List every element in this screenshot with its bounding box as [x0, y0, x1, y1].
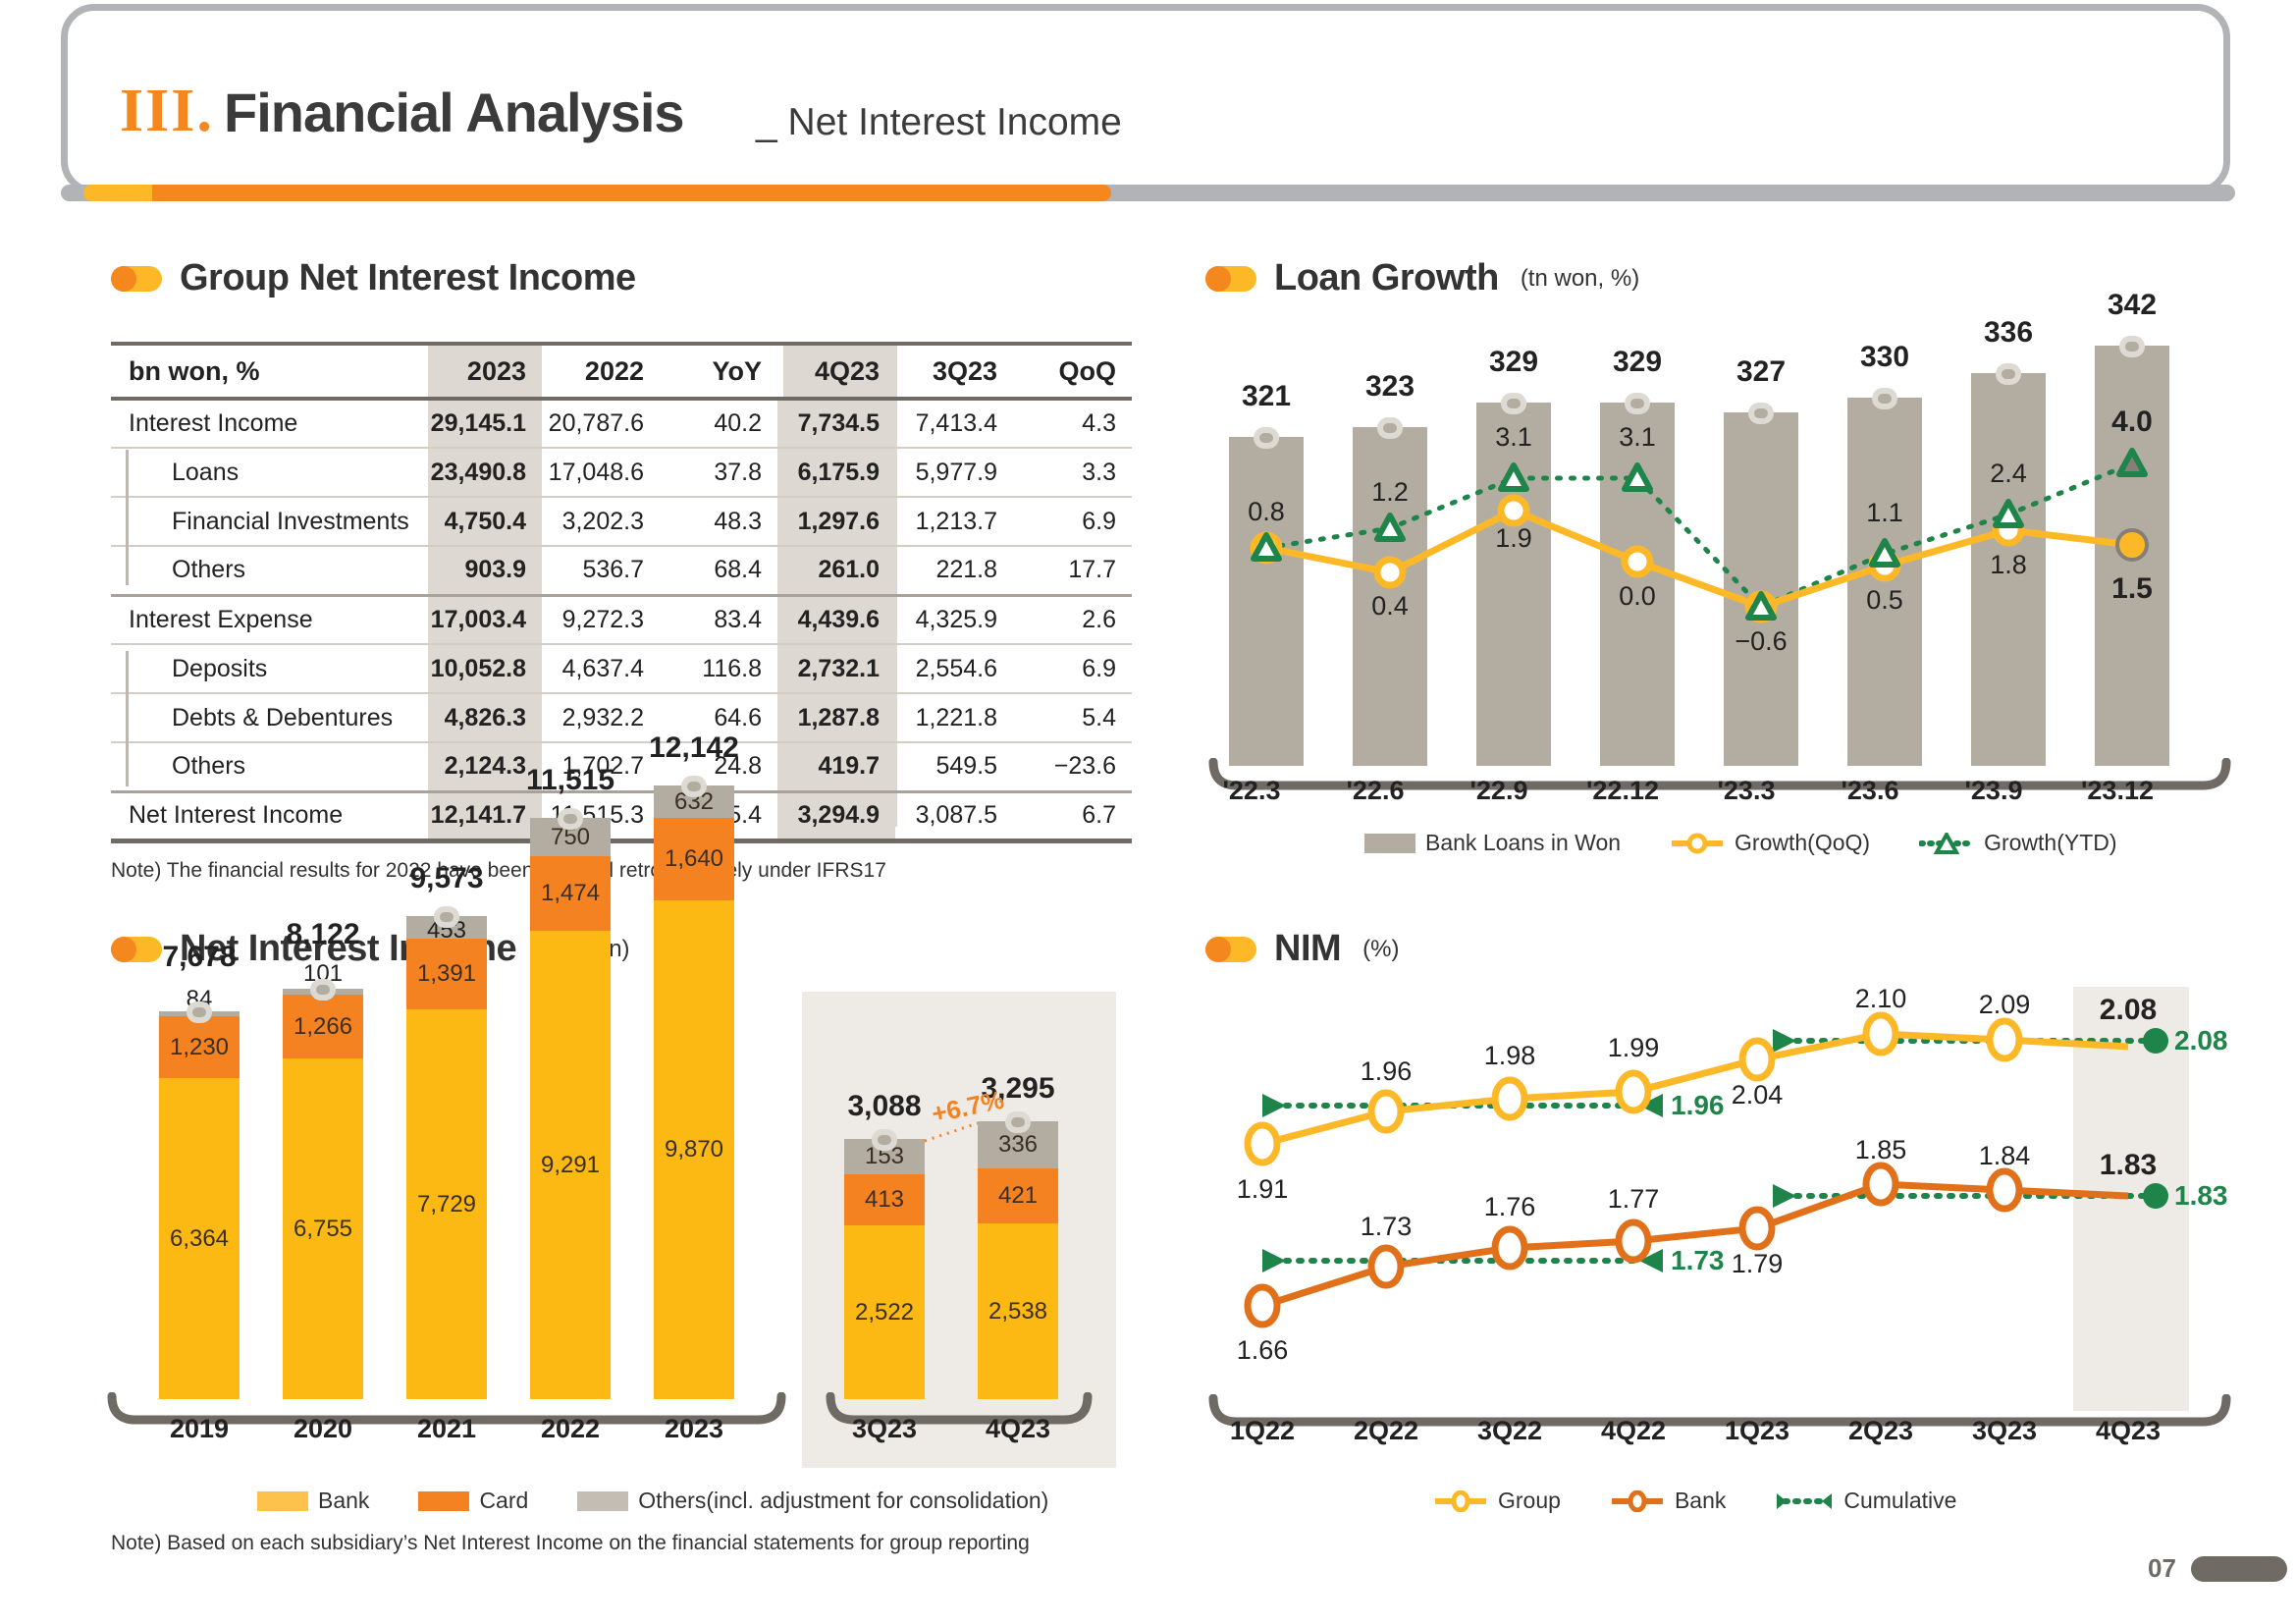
- x-label: 3Q23: [1943, 1416, 2066, 1446]
- x-label: 2021: [385, 1414, 508, 1444]
- row-label: Net Interest Income: [111, 791, 428, 840]
- legend-swatch-icon: [1364, 834, 1415, 853]
- qoq-label: 1.8: [1969, 550, 2048, 580]
- col-header-yoy: YoY: [660, 344, 777, 399]
- x-label: 2023: [632, 1414, 756, 1444]
- cumulative-label-bank-fy23: 1.83: [2174, 1180, 2228, 1212]
- bullet-pill-icon: [111, 266, 162, 292]
- cell-qoq: 6.9: [1013, 497, 1132, 546]
- x-label: '22.3: [1190, 776, 1313, 806]
- legend-item-card: Card: [418, 1488, 528, 1514]
- x-label: '23.6: [1808, 776, 1932, 806]
- table-row: Loans 23,490.8 17,048.6 37.8 6,175.9 5,9…: [111, 448, 1132, 497]
- legend-swatch-icon: [418, 1491, 469, 1511]
- segment-label-bank: 6,364: [170, 1225, 229, 1253]
- table-row: Others 903.9 536.7 68.4 261.0 221.8 17.7: [111, 546, 1132, 595]
- col-header-2023: 2023: [428, 344, 542, 399]
- cell-2023: 4,826.3: [428, 693, 542, 742]
- indent-bracket: [126, 651, 129, 786]
- group-value-label: 1.98: [1468, 1041, 1551, 1071]
- table-row: Interest Expense 17,003.4 9,272.3 83.4 4…: [111, 595, 1132, 644]
- cell-2023: 12,141.7: [428, 791, 542, 840]
- legend-label: Growth(YTD): [1984, 830, 2116, 856]
- bar-grommet-icon: [310, 979, 336, 1001]
- segment-label-bank: 7,729: [417, 1191, 476, 1218]
- row-label: Others: [111, 742, 428, 791]
- legend-swatch-icon: [577, 1491, 628, 1511]
- x-label: 4Q22: [1572, 1416, 1695, 1446]
- stacked-bar-2023: 632 1,640 9,870: [654, 785, 734, 1399]
- qoq-label: 0.5: [1845, 585, 1924, 616]
- slide: III. Financial Analysis _ Net Interest I…: [0, 0, 2296, 1624]
- cell-2023: 903.9: [428, 546, 542, 595]
- segment-label-bank: 6,755: [294, 1216, 352, 1243]
- bank-value-label: 1.84: [1963, 1141, 2046, 1171]
- stacked-bar-2021: 1,391 7,729: [406, 916, 487, 1399]
- section-title: Group Net Interest Income: [180, 257, 636, 299]
- loan-growth-chart: 321 323 329 329 327 330 336 342: [1217, 324, 2228, 776]
- legend-item-cumulative: Cumulative: [1775, 1488, 1956, 1514]
- x-label: 1Q23: [1695, 1416, 1819, 1446]
- bar-grommet-icon: [187, 1001, 212, 1023]
- cell-qoq: −23.6: [1013, 742, 1132, 791]
- ytd-label: 2.4: [1969, 459, 2048, 489]
- legend-item-bank-loans: Bank Loans in Won: [1364, 830, 1621, 856]
- x-label: '22.9: [1437, 776, 1561, 806]
- bar-grommet-icon: [434, 906, 459, 928]
- legend-line-cumulative-icon: [1775, 1490, 1834, 1512]
- section-title: NIM: [1274, 928, 1341, 970]
- header-underline-orange: [83, 185, 1111, 201]
- legend-label: Others(incl. adjustment for consolidatio…: [638, 1488, 1048, 1514]
- row-label: Interest Expense: [111, 595, 428, 644]
- legend-item-bank: Bank: [257, 1488, 369, 1514]
- cell-4q23: 261.0: [777, 546, 895, 595]
- cell-2023: 23,490.8: [428, 448, 542, 497]
- bar-grommet-icon: [558, 808, 583, 830]
- nim-chart: 1.91 1.96 1.98 1.99 2.04 2.10 2.09 2.08 …: [1217, 992, 2228, 1394]
- cell-yoy: 83.4: [660, 595, 777, 644]
- legend-label: Card: [479, 1488, 528, 1514]
- loan-growth-lines: [1217, 324, 2228, 776]
- segment-label-card: 1,266: [294, 1013, 352, 1041]
- nim-lines: [1217, 992, 2228, 1394]
- cumulative-label-bank-fy22: 1.73: [1671, 1245, 1725, 1276]
- cell-2023: 4,750.4: [428, 497, 542, 546]
- group-value-label: 2.04: [1716, 1080, 1798, 1110]
- bank-value-label: 1.76: [1468, 1192, 1551, 1222]
- legend-item-group: Group: [1433, 1488, 1561, 1514]
- stacked-bar-2022: 750 1,474 9,291: [530, 818, 611, 1399]
- cell-4q23: 3,294.9: [777, 791, 895, 840]
- x-label: '22.12: [1561, 776, 1684, 806]
- group-value-label: 2.10: [1840, 984, 1922, 1014]
- legend-label: Cumulative: [1843, 1488, 1956, 1514]
- cell-2022: 3,202.3: [542, 497, 660, 546]
- x-label: 2Q23: [1819, 1416, 1943, 1446]
- bank-value-label: 1.66: [1221, 1335, 1304, 1366]
- qoq-label: 1.5: [2093, 572, 2171, 606]
- group-value-label: 1.96: [1345, 1056, 1427, 1087]
- section-title: Loan Growth: [1274, 257, 1499, 299]
- cell-yoy: 40.2: [660, 399, 777, 448]
- cumulative-label-group-fy22: 1.96: [1671, 1090, 1725, 1121]
- cell-2023: 17,003.4: [428, 595, 542, 644]
- legend-line-group-icon: [1433, 1490, 1488, 1512]
- ytd-label: 3.1: [1598, 422, 1677, 453]
- cell-qoq: 17.7: [1013, 546, 1132, 595]
- bar-value-label: 342: [2093, 289, 2171, 322]
- cell-2022: 4,637.4: [542, 644, 660, 693]
- cell-4q23: 4,439.6: [777, 595, 895, 644]
- cell-qoq: 4.3: [1013, 399, 1132, 448]
- x-label: 2020: [261, 1414, 385, 1444]
- legend-line-bank-icon: [1610, 1490, 1665, 1512]
- cell-4q23: 6,175.9: [777, 448, 895, 497]
- cell-3q23: 4,325.9: [895, 595, 1013, 644]
- ytd-label: 3.1: [1474, 422, 1553, 453]
- bullet-pill-icon: [1205, 937, 1256, 962]
- row-label: Deposits: [111, 644, 428, 693]
- col-header-qoq: QoQ: [1013, 344, 1132, 399]
- header-underline-accent: [83, 185, 152, 201]
- cumulative-label-group-fy23: 2.08: [2174, 1025, 2228, 1056]
- cell-2022: 536.7: [542, 546, 660, 595]
- cell-3q23: 549.5: [895, 742, 1013, 791]
- cell-3q23: 221.8: [895, 546, 1013, 595]
- section-header-loan-growth: Loan Growth (tn won, %): [1205, 257, 1639, 299]
- segment-label-bank: 9,291: [541, 1152, 600, 1179]
- table-head: bn won, % 2023 2022 YoY 4Q23 3Q23 QoQ: [111, 344, 1132, 399]
- bank-value-label: 1.73: [1345, 1212, 1427, 1242]
- cell-yoy: 68.4: [660, 546, 777, 595]
- qoq-label: 0.4: [1351, 591, 1429, 622]
- cell-4q23: 419.7: [777, 742, 895, 791]
- x-label: 2022: [508, 1414, 632, 1444]
- total-label-2023: 12,142: [632, 731, 756, 765]
- group-value-label: 1.99: [1592, 1033, 1675, 1063]
- legend-swatch-icon: [257, 1491, 308, 1511]
- bank-value-label: 1.79: [1716, 1249, 1798, 1279]
- section-number: III.: [120, 77, 214, 146]
- col-header-4q23: 4Q23: [777, 344, 895, 399]
- x-label: '23.3: [1684, 776, 1808, 806]
- row-label: Financial Investments: [111, 497, 428, 546]
- qoq-label: 0.0: [1598, 581, 1677, 612]
- nii-note: Note) Based on each subsidiary’s Net Int…: [111, 1532, 1030, 1555]
- row-label: Loans: [111, 448, 428, 497]
- col-header-unit: bn won, %: [111, 344, 428, 399]
- x-label: 1Q22: [1201, 1416, 1324, 1446]
- legend-label: Bank: [1675, 1488, 1726, 1514]
- cell-qoq: 6.7: [1013, 791, 1132, 840]
- segment-label-card: 1,474: [541, 880, 600, 907]
- row-label: Interest Income: [111, 399, 428, 448]
- cell-2022: 20,787.6: [542, 399, 660, 448]
- cell-3q23: 3,087.5: [895, 791, 1013, 840]
- stacked-bar-2020: 1,266 6,755: [283, 989, 363, 1399]
- bank-value-label: 1.85: [1840, 1135, 1922, 1165]
- qoq-label: −0.6: [1722, 626, 1800, 657]
- group-value-label: 2.09: [1963, 990, 2046, 1020]
- legend-line-qoq-icon: [1670, 833, 1725, 854]
- cell-3q23: 1,221.8: [895, 693, 1013, 742]
- cell-qoq: 2.6: [1013, 595, 1132, 644]
- legend-item-others: Others(incl. adjustment for consolidatio…: [577, 1488, 1048, 1514]
- cell-2023: 10,052.8: [428, 644, 542, 693]
- nii-legend: Bank Card Others(incl. adjustment for co…: [257, 1488, 1084, 1514]
- segment-label-card: 1,391: [417, 960, 476, 988]
- section-unit: (tn won, %): [1521, 265, 1639, 293]
- total-label-2021: 9,573: [385, 862, 508, 895]
- segment-label-card: 1,640: [665, 845, 723, 873]
- cell-2022: 17,048.6: [542, 448, 660, 497]
- legend-label: Bank Loans in Won: [1425, 830, 1621, 856]
- x-label: 2Q22: [1324, 1416, 1448, 1446]
- cell-qoq: 6.9: [1013, 644, 1132, 693]
- cell-qoq: 5.4: [1013, 693, 1132, 742]
- legend-label: Growth(QoQ): [1735, 830, 1870, 856]
- section-header-nim: NIM (%): [1205, 928, 1399, 970]
- bullet-pill-icon: [1205, 266, 1256, 292]
- legend-item-ytd: Growth(YTD): [1919, 830, 2116, 856]
- page-number: 07: [2148, 1553, 2176, 1584]
- row-label: Others: [111, 546, 428, 595]
- table-row: Net Interest Income 12,141.7 11,515.3 5.…: [111, 791, 1132, 840]
- section-header-group-nii: Group Net Interest Income: [111, 257, 636, 299]
- title-separator: _: [756, 101, 777, 143]
- ytd-label: 1.2: [1351, 477, 1429, 508]
- legend-line-ytd-icon: [1919, 833, 1974, 854]
- x-label: 4Q23: [956, 1414, 1080, 1444]
- qoq-label: 0.8: [1227, 497, 1306, 527]
- col-header-3q23: 3Q23: [895, 344, 1013, 399]
- cell-yoy: 48.3: [660, 497, 777, 546]
- table-row: Financial Investments 4,750.4 3,202.3 48…: [111, 497, 1132, 546]
- bank-value-label: 1.83: [2087, 1149, 2169, 1182]
- col-header-2022: 2022: [542, 344, 660, 399]
- group-value-label: 2.08: [2087, 994, 2169, 1027]
- legend-item-bank: Bank: [1610, 1488, 1726, 1514]
- cell-yoy: 37.8: [660, 448, 777, 497]
- cell-2022: 9,272.3: [542, 595, 660, 644]
- group-value-label: 1.91: [1221, 1174, 1304, 1205]
- x-label: '22.6: [1313, 776, 1437, 806]
- segment-label-card: 1,230: [170, 1034, 229, 1061]
- page-title: Financial Analysis: [224, 81, 684, 144]
- x-label: '23.12: [2056, 776, 2179, 806]
- cell-3q23: 5,977.9: [895, 448, 1013, 497]
- segment-label-bank: 9,870: [665, 1136, 723, 1164]
- indent-bracket: [126, 450, 129, 585]
- total-label-2019: 7,678: [137, 941, 261, 974]
- cell-4q23: 1,297.6: [777, 497, 895, 546]
- table-row: Interest Income 29,145.1 20,787.6 40.2 7…: [111, 399, 1132, 448]
- cell-2023: 29,145.1: [428, 399, 542, 448]
- loan-growth-legend: Bank Loans in Won Growth(QoQ) Growth(YTD…: [1364, 830, 2153, 856]
- table-row: Debts & Debentures 4,826.3 2,932.2 64.6 …: [111, 693, 1132, 742]
- qoq-label: 1.9: [1474, 523, 1553, 554]
- nim-legend: Group Bank Cumulative: [1433, 1488, 1992, 1514]
- x-label: '23.9: [1932, 776, 2056, 806]
- bank-value-label: 1.77: [1592, 1184, 1675, 1215]
- cell-qoq: 3.3: [1013, 448, 1132, 497]
- legend-item-qoq: Growth(QoQ): [1670, 830, 1870, 856]
- row-label: Debts & Debentures: [111, 693, 428, 742]
- total-label-2020: 8,122: [261, 918, 385, 951]
- total-label-2022: 11,515: [508, 764, 632, 797]
- x-label: 4Q23: [2066, 1416, 2190, 1446]
- legend-label: Bank: [318, 1488, 369, 1514]
- cell-4q23: 2,732.1: [777, 644, 895, 693]
- cell-3q23: 1,213.7: [895, 497, 1013, 546]
- table-header-row: bn won, % 2023 2022 YoY 4Q23 3Q23 QoQ: [111, 344, 1132, 399]
- bar-grommet-icon: [681, 776, 707, 797]
- table-row: Deposits 10,052.8 4,637.4 116.8 2,732.1 …: [111, 644, 1132, 693]
- cell-3q23: 7,413.4: [895, 399, 1013, 448]
- cell-yoy: 116.8: [660, 644, 777, 693]
- section-unit: (%): [1362, 936, 1399, 963]
- subtitle-text: Net Interest Income: [788, 101, 1122, 143]
- page-subtitle: _ Net Interest Income: [756, 101, 1122, 144]
- x-label: 3Q23: [823, 1414, 946, 1444]
- cell-4q23: 1,287.8: [777, 693, 895, 742]
- x-label: 2019: [137, 1414, 261, 1444]
- cell-4q23: 7,734.5: [777, 399, 895, 448]
- x-label: 3Q22: [1448, 1416, 1572, 1446]
- cell-3q23: 2,554.6: [895, 644, 1013, 693]
- stacked-bar-2019: 1,230 6,364: [159, 1011, 240, 1399]
- ytd-label: 4.0: [2093, 406, 2171, 439]
- page-number-bar: [2191, 1556, 2287, 1582]
- legend-label: Group: [1498, 1488, 1561, 1514]
- ytd-label: 1.1: [1845, 498, 1924, 528]
